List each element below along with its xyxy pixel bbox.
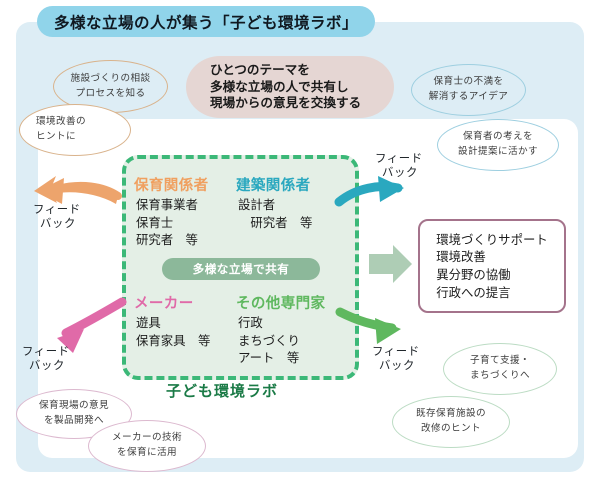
bubble-caregiver-design-line1: 保育者の考えを [463, 130, 533, 145]
bubble-nursery-complaint-line2: 解消するアイデア [429, 90, 508, 105]
group-members-hoiku: 保育事業者 保育士 研究者 等 [136, 196, 198, 249]
bubble-childcare-town: 子育て支援・ まちづくりへ [443, 343, 557, 395]
page-title: 多様な立場の人が集う「子ども環境ラボ」 [37, 6, 375, 37]
bubble-field-to-product-line1: 保育現場の意見 [39, 399, 109, 414]
bubble-maker-tech-line2: を保育に活用 [117, 446, 177, 461]
feedback-label-bottom-right-line1: フィード [372, 344, 420, 358]
bubble-maker-tech: メーカーの技術 を保育に活用 [88, 420, 206, 472]
theme-bubble-line3: 現場からの意見を交換する [210, 95, 370, 112]
feedback-label-top-left: フィード バック [33, 203, 81, 230]
bubble-field-to-product-line2: を製品開発へ [44, 414, 104, 429]
feedback-label-top-right-line2: バック [375, 166, 423, 180]
bubble-childcare-town-line1: 子育て支援・ [470, 354, 530, 369]
share-pill: 多様な立場で共有 [162, 258, 320, 280]
bubble-environment-hint-line2: ヒントに [36, 130, 76, 145]
group-members-kenchiku: 設計者 研究者 等 [238, 196, 312, 231]
feedback-label-top-right: フィード バック [375, 152, 423, 179]
bubble-nursery-complaint: 保育士の不満を 解消するアイデア [411, 64, 526, 116]
bubble-renovation-hint: 既存保育施設の 改修のヒント [392, 396, 510, 448]
bubble-caregiver-design: 保育者の考えを 設計提案に活かす [437, 119, 559, 171]
feedback-label-top-right-line1: フィード [375, 151, 423, 165]
feedback-label-bottom-right-line2: バック [372, 359, 420, 373]
feedback-label-bottom-left-line2: バック [22, 359, 70, 373]
bubble-environment-hint: 環境改善の ヒントに [19, 104, 131, 156]
bubble-renovation-hint-line2: 改修のヒント [421, 422, 481, 437]
feedback-label-bottom-left: フィード バック [22, 345, 70, 372]
bubble-nursery-complaint-line1: 保育士の不満を [434, 75, 504, 90]
group-label-maker: メーカー [134, 292, 194, 313]
theme-bubble-line2: 多様な立場の人で共有し [210, 79, 370, 96]
bubble-renovation-hint-line1: 既存保育施設の [416, 407, 486, 422]
outcome-box: 環境づくりサポート 環境改善 異分野の協働 行政への提言 [418, 219, 566, 313]
theme-bubble: ひとつのテーマを 多様な立場の人で共有し 現場からの意見を交換する [186, 56, 394, 118]
bubble-facility-consult-line1: 施設づくりの相談 [71, 72, 151, 87]
feedback-label-bottom-left-line1: フィード [22, 344, 70, 358]
group-label-other: その他専門家 [236, 292, 325, 313]
bubble-caregiver-design-line2: 設計提案に活かす [458, 145, 538, 160]
feedback-label-top-left-line2: バック [33, 217, 81, 231]
bubble-facility-consult-line2: プロセスを知る [76, 87, 146, 102]
lab-caption: 子ども環境ラボ [166, 380, 278, 401]
theme-bubble-line1: ひとつのテーマを [210, 62, 370, 79]
feedback-label-top-left-line1: フィード [33, 202, 81, 216]
group-label-hoiku: 保育関係者 [134, 174, 209, 195]
outcome-list: 環境づくりサポート 環境改善 異分野の協働 行政への提言 [436, 231, 548, 301]
group-members-maker: 遊具 保育家具 等 [136, 314, 210, 349]
diagram-canvas: 施設づくりの相談 プロセスを知る 環境改善の ヒントに 保育士の不満を 解消する… [0, 0, 600, 484]
bubble-childcare-town-line2: まちづくりへ [470, 369, 530, 384]
feedback-label-bottom-right: フィード バック [372, 345, 420, 372]
group-label-kenchiku: 建築関係者 [236, 174, 311, 195]
group-members-other: 行政 まちづくり アート 等 [238, 314, 300, 367]
bubble-environment-hint-line1: 環境改善の [36, 115, 86, 130]
bubble-maker-tech-line1: メーカーの技術 [112, 431, 182, 446]
